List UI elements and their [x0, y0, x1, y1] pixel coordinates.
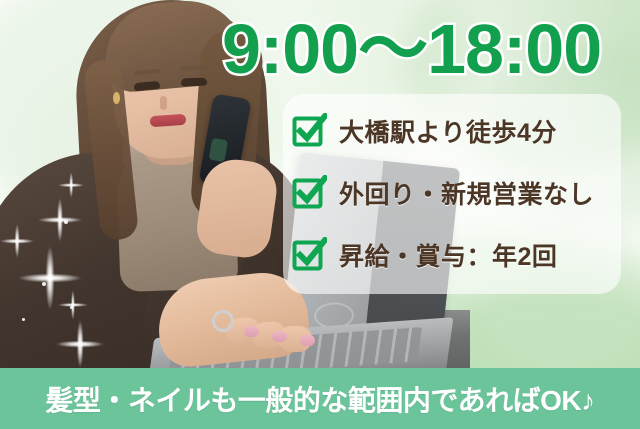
earring	[113, 92, 120, 104]
footer-text: 髪型・ネイルも一般的な範囲内であればOK♪	[45, 379, 594, 419]
checklist: 大橋駅より徒歩4分 外回り・新規営業なし 昇給・賞与：年2回	[291, 100, 621, 286]
job-ad-banner: 9:00〜18:00 大橋駅より徒歩4分 外回り・新規営業なし	[0, 0, 640, 429]
list-item: 外回り・新規営業なし	[291, 162, 621, 224]
fingernail	[272, 331, 287, 342]
fingernail	[300, 335, 315, 346]
list-item: 昇給・賞与：年2回	[291, 224, 621, 286]
footer-bar: 髪型・ネイルも一般的な範囲内であればOK♪	[0, 368, 640, 429]
sparkle-dot-icon	[64, 220, 68, 224]
eye-right	[181, 78, 207, 87]
page-title: 9:00〜18:00	[222, 8, 632, 90]
list-item: 大橋駅より徒歩4分	[291, 100, 621, 162]
sparkle-dot-icon	[42, 282, 46, 286]
list-item-label: 大橋駅より徒歩4分	[339, 113, 557, 149]
checkbox-checked-icon	[291, 237, 327, 273]
sparkle-dot-icon	[22, 318, 25, 321]
nose	[160, 96, 167, 110]
list-item-label: 外回り・新規営業なし	[339, 175, 594, 211]
fingernail	[244, 326, 259, 337]
checkbox-checked-icon	[291, 175, 327, 211]
checkbox-checked-icon	[291, 113, 327, 149]
sparkle-dot-icon	[70, 306, 73, 309]
list-item-label: 昇給・賞与：年2回	[339, 237, 557, 273]
